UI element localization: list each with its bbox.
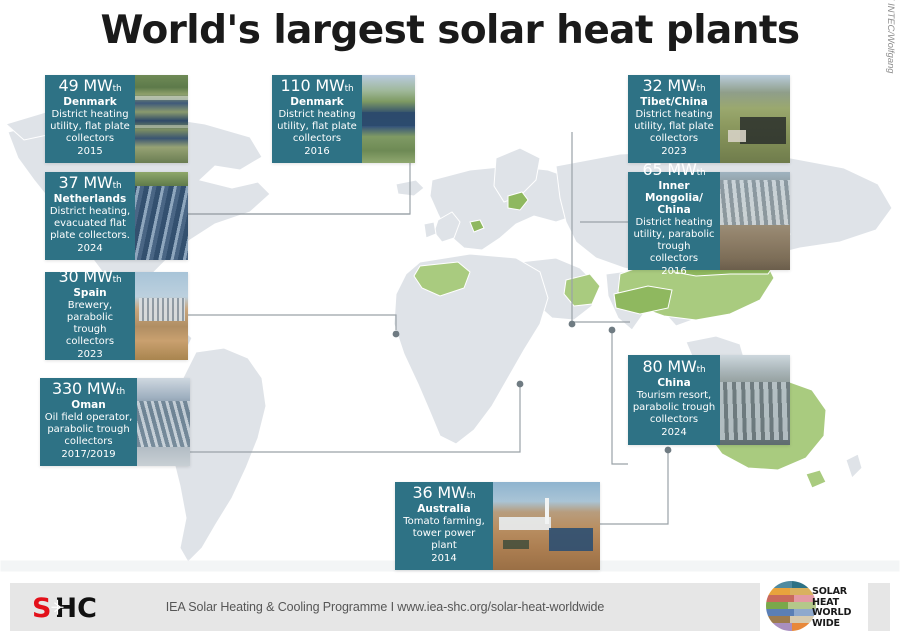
capacity-label: 49 MWth [59,78,122,95]
photo-credits: Photos: Aalborg CSP, Mongolia XuCheng En… [870,0,898,80]
plant-photo-tibet-32 [720,75,790,163]
year-label: 2023 [661,146,686,159]
shc-logo[interactable]: S HC [32,592,122,624]
plant-card-oman-330[interactable]: 330 MWth Oman Oil field operator, parabo… [40,378,190,466]
country-label: China [657,377,690,389]
country-label: Tibet/China [640,96,708,108]
capacity-label: 110 MWth [281,78,354,95]
plant-card-denmark-110[interactable]: 110 MWth Denmark District heating utilit… [272,75,415,163]
plant-card-netherlands-37[interactable]: 37 MWth Netherlands District heating, ev… [45,172,188,260]
capacity-label: 37 MWth [59,175,122,192]
capacity-label: 65 MWth [643,162,706,179]
description-label: District heating utility, flat plate col… [276,109,358,145]
plant-card-australia-36[interactable]: 36 MWth Australia Tomato farming, tower … [395,482,600,570]
plant-photo-oman-330 [137,378,190,466]
description-label: Oil field operator, parabolic trough col… [44,412,133,448]
year-label: 2014 [431,553,456,566]
plant-photo-denmark-110 [362,75,415,163]
description-label: Brewery, parabolic trough collectors [49,300,131,348]
country-label: Denmark [290,96,344,108]
plant-photo-inner-mongolia-65 [720,172,790,270]
country-label: Spain [73,287,106,299]
description-label: District heating utility, flat plate col… [632,109,716,145]
description-label: Tourism resort, parabolic trough collect… [632,390,716,426]
capacity-label: 80 MWth [643,359,706,376]
country-label: Inner Mongolia/ China [632,180,716,216]
plant-card-inner-mongolia-65[interactable]: 65 MWth Inner Mongolia/ China District h… [628,172,790,270]
logo-line-4: WIDE [812,619,851,630]
plant-photo-denmark-49 [135,75,188,163]
description-label: District heating utility, flat plate col… [49,109,131,145]
description-label: Tomato farming, tower power plant [399,516,489,552]
country-label: Netherlands [54,193,127,205]
year-label: 2016 [304,146,329,159]
country-label: Denmark [63,96,117,108]
country-label: Australia [417,503,470,515]
footer-text: IEA Solar Heating & Cooling Programme I … [10,583,760,631]
plant-card-spain-30[interactable]: 30 MWth Spain Brewery, parabolic trough … [45,272,188,360]
svg-text:HC: HC [55,593,97,624]
plant-card-denmark-49[interactable]: 49 MWth Denmark District heating utility… [45,75,188,163]
capacity-label: 30 MWth [59,269,122,286]
year-label: 2024 [77,243,102,256]
year-label: 2016 [661,266,686,279]
country-label: Oman [71,399,105,411]
plant-photo-china-80 [720,355,790,445]
plant-card-china-80[interactable]: 80 MWth China Tourism resort, parabolic … [628,355,790,445]
capacity-label: 32 MWth [643,78,706,95]
page-title: World's largest solar heat plants [0,8,900,53]
plant-photo-spain-30 [135,272,188,360]
plant-photo-australia-36 [493,482,600,570]
year-label: 2024 [661,427,686,440]
svg-text:S: S [32,593,51,624]
year-label: 2017/2019 [61,449,115,462]
capacity-label: 36 MWth [413,485,476,502]
description-label: District heating, evacuated flat plate c… [49,206,131,242]
capacity-label: 330 MWth [52,381,125,398]
plant-card-tibet-32[interactable]: 32 MWth Tibet/China District heating uti… [628,75,790,163]
year-label: 2015 [77,146,102,159]
plant-photo-netherlands-37 [135,172,188,260]
solar-heat-worldwide-wordmark: SOLAR HEAT WORLD WIDE [812,587,851,630]
year-label: 2023 [77,349,102,362]
map-highlight-oman [564,274,600,306]
description-label: District heating utility, parabolic trou… [632,217,716,265]
